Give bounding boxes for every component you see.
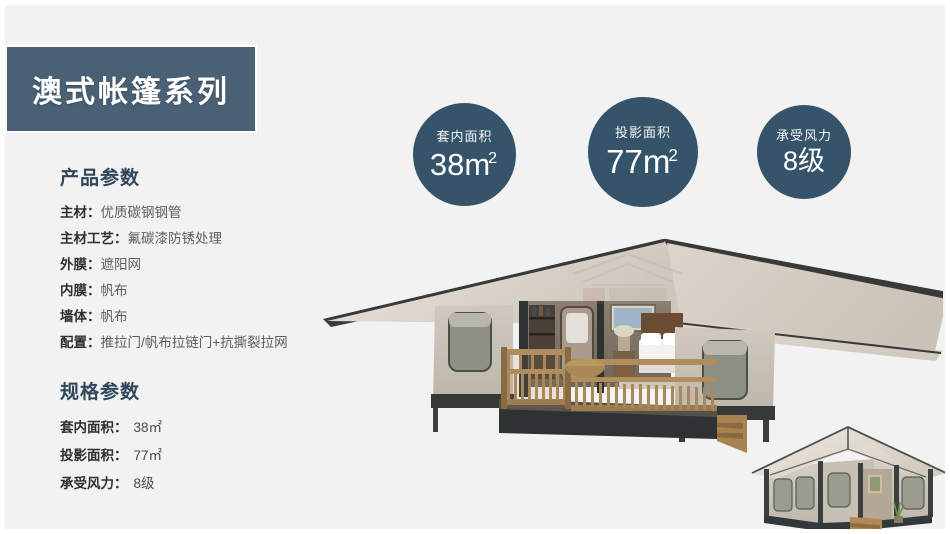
param-value: 遮阳网 — [101, 257, 142, 272]
spec-params-heading: 规格参数 — [60, 382, 360, 404]
param-row: 主材工艺：氟碳漆防锈处理 — [60, 226, 360, 252]
product-params-heading: 产品参数 — [60, 168, 360, 190]
spec-label: 承受风力： — [60, 476, 128, 491]
spec-value: 8级 — [134, 476, 155, 491]
stat-badge-label: 投影面积 — [615, 126, 671, 139]
mini-tent-image — [750, 419, 950, 534]
stat-badge-value: 38m2 — [430, 149, 499, 180]
param-row: 配置：推拉门/帆布拉链门+抗撕裂拉网 — [60, 330, 360, 356]
title-banner: 澳式帐篷系列 — [5, 45, 257, 133]
stat-badge-label: 承受风力 — [776, 129, 832, 142]
param-row: 外膜：遮阳网 — [60, 252, 360, 278]
param-value: 氟碳漆防锈处理 — [128, 231, 223, 246]
stat-badge-number: 77 — [606, 143, 643, 180]
param-value: 帆布 — [101, 283, 128, 298]
param-label: 主材工艺： — [60, 231, 128, 246]
stat-badge-unit-superscript: 2 — [488, 149, 497, 167]
param-label: 墙体： — [60, 309, 101, 324]
spec-params-list: 套内面积：38㎡ 投影面积：77㎡ 承受风力：8级 — [60, 414, 360, 498]
spec-value: 77㎡ — [134, 448, 163, 463]
param-label: 外膜： — [60, 257, 101, 272]
stat-badge-projected-area: 投影面积 77m2 — [588, 97, 698, 207]
stat-badge-number: 8级 — [783, 146, 825, 176]
param-label: 主材： — [60, 205, 101, 220]
param-row: 墙体：帆布 — [60, 304, 360, 330]
param-row: 主材：优质碳钢钢管 — [60, 200, 360, 226]
param-value: 帆布 — [101, 309, 128, 324]
specification-column: 产品参数 主材：优质碳钢钢管 主材工艺：氟碳漆防锈处理 外膜：遮阳网 内膜：帆布… — [60, 168, 360, 498]
stat-badge-value: 8级 — [783, 148, 825, 175]
spec-row: 套内面积：38㎡ — [60, 414, 360, 442]
param-value: 推拉门/帆布拉链门+抗撕裂拉网 — [101, 335, 288, 350]
stat-badge-wind-resistance: 承受风力 8级 — [757, 105, 851, 199]
spec-row: 投影面积：77㎡ — [60, 442, 360, 470]
stat-badge-unit-superscript: 2 — [668, 145, 678, 165]
param-label: 内膜： — [60, 283, 101, 298]
param-row: 内膜：帆布 — [60, 278, 360, 304]
spec-label: 套内面积： — [60, 420, 128, 435]
slide-canvas: 澳式帐篷系列 产品参数 主材：优质碳钢钢管 主材工艺：氟碳漆防锈处理 外膜：遮阳… — [0, 0, 950, 534]
stat-badge-interior-area: 套内面积 38m2 — [413, 103, 516, 206]
stat-badge-number: 38 — [430, 147, 464, 182]
param-value: 优质碳钢钢管 — [101, 205, 182, 220]
spec-label: 投影面积： — [60, 448, 128, 463]
stat-badge-unit: m — [464, 147, 490, 182]
product-params-list: 主材：优质碳钢钢管 主材工艺：氟碳漆防锈处理 外膜：遮阳网 内膜：帆布 墙体：帆… — [60, 200, 360, 356]
stat-badge-unit: m — [643, 143, 671, 180]
stat-badge-value: 77m2 — [606, 145, 680, 178]
spec-row: 承受风力：8级 — [60, 470, 360, 498]
stat-badge-label: 套内面积 — [436, 130, 492, 143]
param-label: 配置： — [60, 335, 101, 350]
page-title: 澳式帐篷系列 — [32, 67, 230, 111]
spec-value: 38㎡ — [134, 420, 163, 435]
